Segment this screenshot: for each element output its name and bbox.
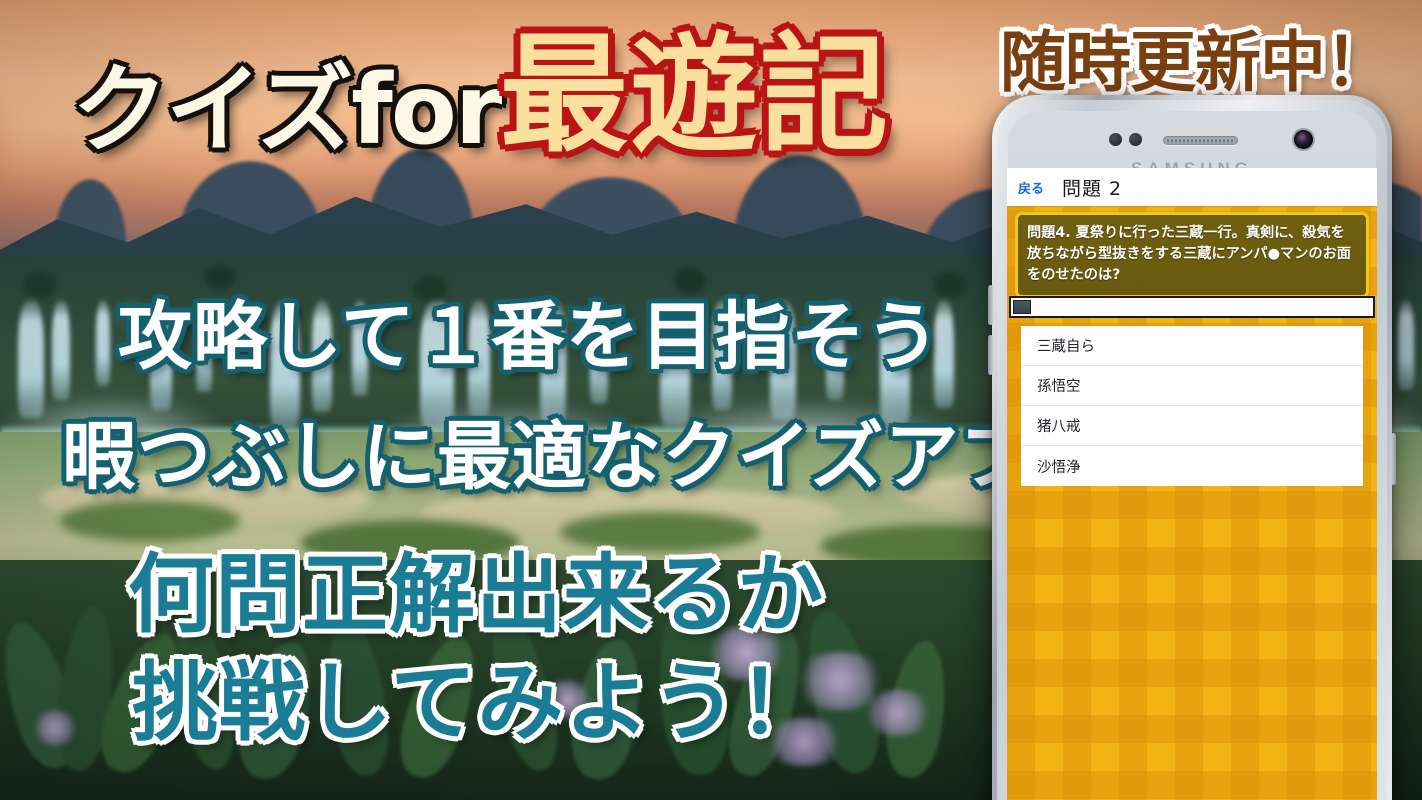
- list-item[interactable]: 猪八戒: [1021, 406, 1363, 446]
- list-item[interactable]: 孫悟空: [1021, 366, 1363, 406]
- app-header-bar: 戻る 問題 2: [1007, 168, 1377, 206]
- volume-down-button[interactable]: [988, 335, 993, 375]
- promo-line-1: 攻略して１番を目指そう: [118, 300, 941, 374]
- answer-options-list: 三蔵自ら 孫悟空 猪八戒 沙悟浄: [1021, 326, 1363, 486]
- promo-line-4: 挑戦してみよう！: [132, 660, 825, 746]
- app-screen: 戻る 問題 2 問題4. 夏祭りに行った三蔵一行。真剣に、殺気を放ちながら型抜き…: [1007, 168, 1377, 800]
- earpiece-grille: [1167, 139, 1234, 142]
- proximity-sensor-icon: [1109, 133, 1122, 146]
- update-badge: 随時更新中！: [1000, 30, 1390, 96]
- question-panel: 問題4. 夏祭りに行った三蔵一行。真剣に、殺気を放ちながら型抜きをする三蔵にアン…: [1015, 212, 1369, 298]
- promo-line-2: 暇つぶしに最適なクイズアプリ: [62, 420, 1110, 494]
- question-text: 問題4. 夏祭りに行った三蔵一行。真剣に、殺気を放ちながら型抜きをする三蔵にアン…: [1027, 223, 1357, 286]
- back-button[interactable]: 戻る: [1018, 178, 1044, 197]
- answer-label: 孫悟空: [1037, 375, 1081, 396]
- light-sensor-icon: [1129, 133, 1142, 146]
- power-button[interactable]: [1391, 433, 1396, 485]
- answer-label: 沙悟浄: [1037, 456, 1081, 477]
- promo-title-main: クイズfor: [72, 62, 500, 158]
- list-item[interactable]: 三蔵自ら: [1021, 326, 1363, 366]
- promo-banner: クイズfor 最遊記 攻略して１番を目指そう 暇つぶしに最適なクイズアプリ 何問…: [0, 0, 1422, 800]
- volume-up-button[interactable]: [988, 285, 993, 325]
- quiz-progress-bar: [1009, 296, 1375, 318]
- list-item[interactable]: 沙悟浄: [1021, 446, 1363, 486]
- promo-title-accent: 最遊記: [500, 32, 890, 160]
- answer-label: 猪八戒: [1037, 415, 1081, 436]
- answer-label: 三蔵自ら: [1037, 335, 1095, 356]
- front-camera-icon: [1294, 130, 1313, 149]
- progress-fill: [1013, 300, 1031, 314]
- page-title: 問題 2: [1062, 174, 1122, 201]
- promo-line-3: 何問正解出来るか: [128, 552, 824, 638]
